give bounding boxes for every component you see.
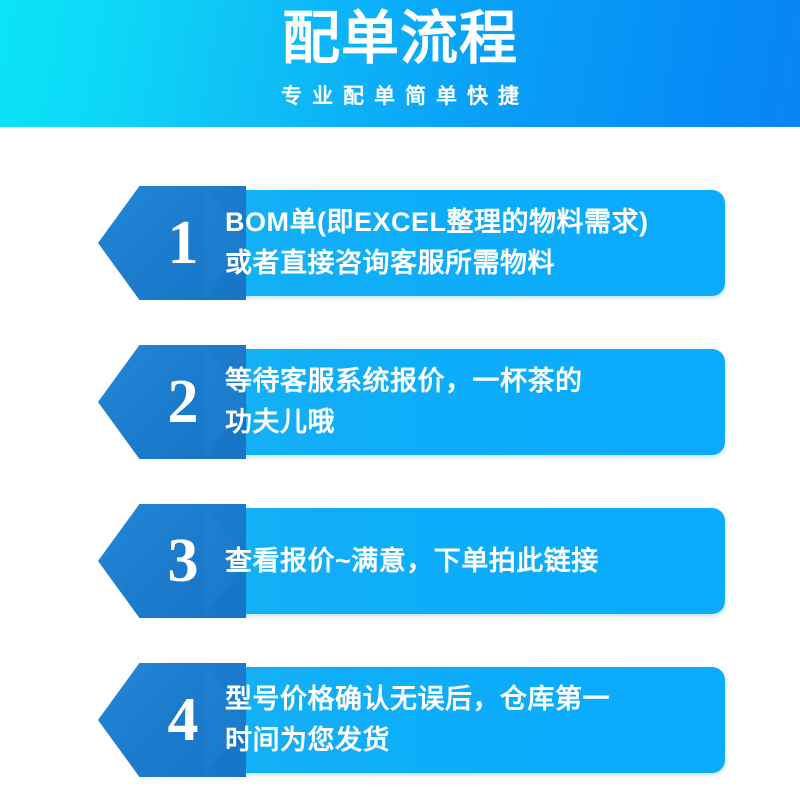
step-text: 型号价格确认无误后，仓库第一 时间为您发货: [225, 663, 715, 777]
promo-graphic: 配单流程 专业配单简单快捷 1 BOM单(即EXCEL整理的物料需求) 或者直接…: [0, 0, 800, 800]
step-text-line: 查看报价~满意，下单拍此链接: [225, 541, 715, 582]
step-number: 4: [98, 663, 246, 777]
step-number: 3: [98, 504, 246, 618]
step-text-line: 等待客服系统报价，一杯茶的: [225, 361, 715, 402]
step-text: 查看报价~满意，下单拍此链接: [225, 504, 715, 618]
step-text-line: 功夫儿哦: [225, 402, 715, 443]
step-text-line: 时间为您发货: [225, 720, 715, 761]
step-text: 等待客服系统报价，一杯茶的 功夫儿哦: [225, 345, 715, 459]
step-number: 2: [98, 345, 246, 459]
page-title: 配单流程: [0, 2, 800, 76]
step-text: BOM单(即EXCEL整理的物料需求) 或者直接咨询客服所需物料: [225, 186, 715, 300]
step-text-line: 型号价格确认无误后，仓库第一: [225, 679, 715, 720]
steps-list: 1 BOM单(即EXCEL整理的物料需求) 或者直接咨询客服所需物料 2 等待客…: [0, 127, 800, 777]
step-row: 2 等待客服系统报价，一杯茶的 功夫儿哦: [0, 345, 800, 459]
step-row: 4 型号价格确认无误后，仓库第一 时间为您发货: [0, 663, 800, 777]
step-number: 1: [98, 186, 246, 300]
step-row: 1 BOM单(即EXCEL整理的物料需求) 或者直接咨询客服所需物料: [0, 186, 800, 300]
step-text-line: 或者直接咨询客服所需物料: [225, 243, 715, 284]
page-subtitle: 专业配单简单快捷: [0, 82, 800, 112]
step-text-line: BOM单(即EXCEL整理的物料需求): [225, 202, 715, 243]
header-banner: 配单流程 专业配单简单快捷: [0, 0, 800, 127]
step-row: 3 查看报价~满意，下单拍此链接: [0, 504, 800, 618]
